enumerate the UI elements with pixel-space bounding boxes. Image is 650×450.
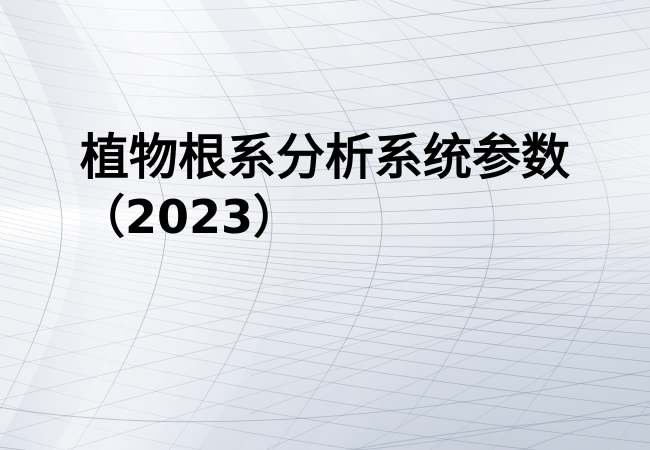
mesh-foreground-arcs: [0, 366, 650, 450]
mesh-top-arc: [352, 0, 650, 23]
page-title: 植物根系分析系统参数: [0, 128, 650, 188]
page-subtitle-year: （2023）: [0, 188, 514, 246]
title-slide: 植物根系分析系统参数 （2023）: [0, 0, 650, 450]
title-block: 植物根系分析系统参数 （2023）: [0, 128, 650, 246]
